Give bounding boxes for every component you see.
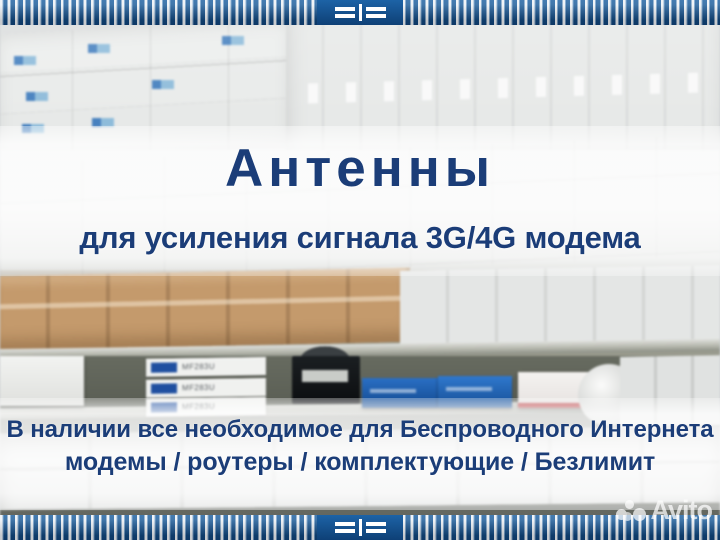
avito-watermark-label: Avito (651, 497, 713, 524)
top-decorative-border (0, 0, 720, 25)
footer-text-products: модемы / роутеры / комплектующие / Безли… (0, 450, 720, 475)
advertisement-banner: MF283U MF283U MF283U Антенны для усилени… (0, 0, 720, 540)
page-subtitle: для усиления сигнала 3G/4G модема (0, 222, 720, 253)
buckle-clasp-icon (317, 0, 403, 25)
buckle-center-bar-icon (359, 519, 362, 536)
avito-logo-icon (616, 500, 646, 522)
avito-watermark: Avito (616, 497, 713, 524)
buckle-right-bars-icon (366, 7, 386, 18)
footer-text-availability: В наличии все необходимое для Беспроводн… (0, 418, 720, 442)
buckle-center-bar-icon (359, 4, 362, 21)
buckle-left-bars-icon (335, 7, 355, 18)
buckle-left-bars-icon (335, 522, 355, 533)
bottom-decorative-border (0, 515, 720, 540)
buckle-right-bars-icon (366, 522, 386, 533)
buckle-clasp-icon (317, 515, 403, 540)
page-title: Антенны (0, 142, 720, 195)
